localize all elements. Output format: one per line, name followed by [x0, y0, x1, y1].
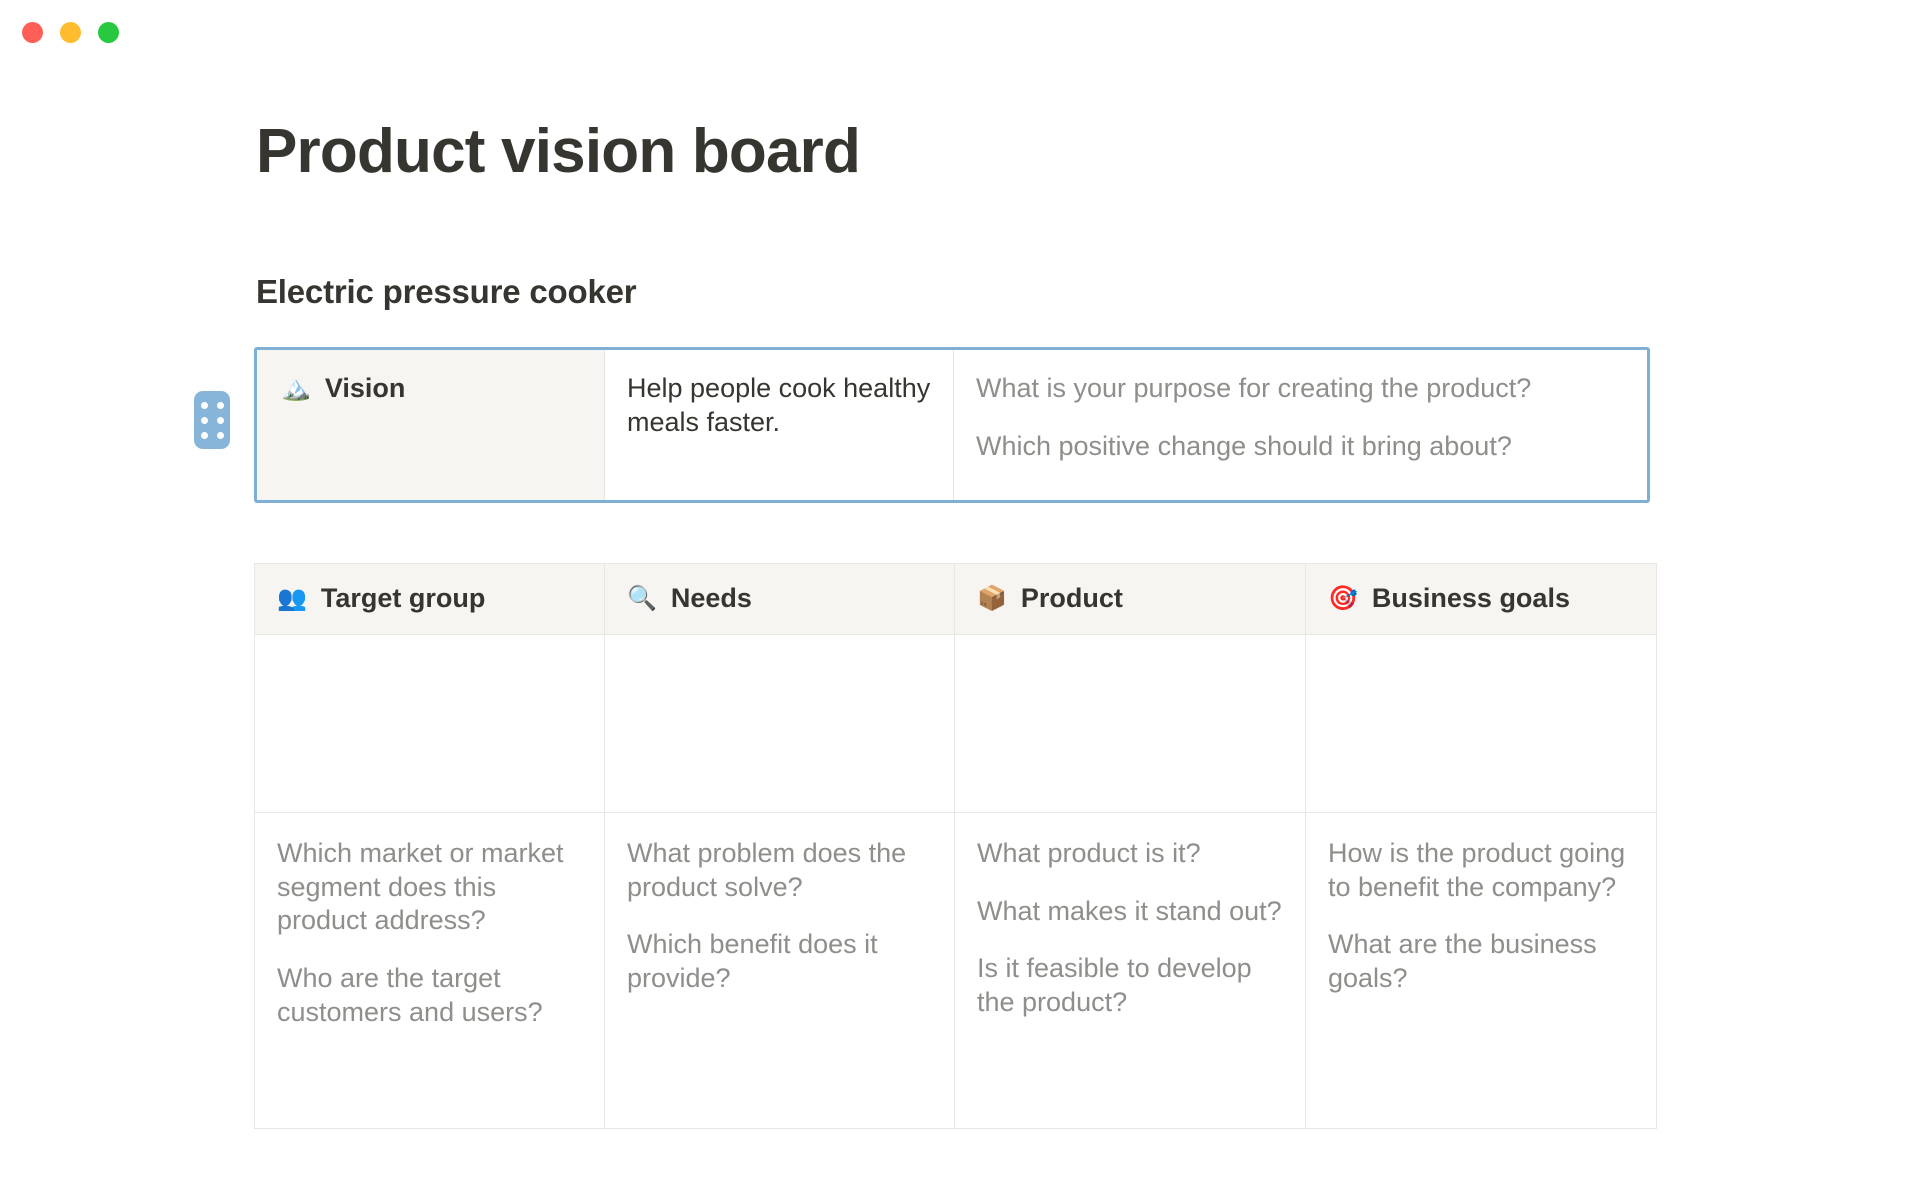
vision-value-line: Help people cook healthy meals faster.	[627, 372, 931, 440]
vision-prompts-text: What is your purpose for creating the pr…	[976, 372, 1625, 464]
prompt-cell-target-group[interactable]: Which market or market segment does this…	[255, 812, 605, 1128]
column-header-label: Target group	[321, 582, 486, 616]
direct-hit-icon: 🎯	[1328, 587, 1358, 611]
table-header-row: 👥 Target group 🔍 Needs 📦 Product	[255, 564, 1657, 635]
vision-prompts-cell[interactable]: What is your purpose for creating the pr…	[954, 350, 1647, 500]
drag-handle[interactable]	[194, 391, 230, 449]
prompt-line: What are the business goals?	[1328, 928, 1634, 996]
prompt-cell-product[interactable]: What product is it? What makes it stand …	[955, 812, 1306, 1128]
prompt-line: What problem does the product solve?	[627, 837, 932, 905]
vision-prompt: What is your purpose for creating the pr…	[976, 372, 1625, 406]
vision-label-text: Vision	[325, 372, 406, 406]
page-subtitle[interactable]: Electric pressure cooker	[256, 272, 636, 312]
column-header-target-group[interactable]: 👥 Target group	[255, 564, 605, 635]
value-cell-needs[interactable]	[605, 634, 955, 812]
value-cell-product[interactable]	[955, 634, 1306, 812]
vision-table-wrapper: 🏔️ Vision Help people cook healthy meals…	[254, 347, 1650, 503]
window-controls	[22, 22, 119, 43]
document-page: Product vision board Electric pressure c…	[0, 0, 1920, 1200]
prompt-line: How is the product going to benefit the …	[1328, 837, 1634, 905]
drag-dots-icon	[201, 402, 224, 439]
table-row: Which market or market segment does this…	[255, 812, 1657, 1128]
column-header-label: Needs	[671, 582, 752, 616]
vision-prompt: Which positive change should it bring ab…	[976, 430, 1625, 464]
prompt-line: What product is it?	[977, 837, 1283, 871]
busts-in-silhouette-icon: 👥	[277, 587, 307, 611]
vision-label-cell[interactable]: 🏔️ Vision	[257, 350, 605, 500]
column-header-label: Business goals	[1372, 582, 1570, 616]
table-row	[255, 634, 1657, 812]
vision-value-cell[interactable]: Help people cook healthy meals faster.	[605, 350, 954, 500]
column-header-label: Product	[1021, 582, 1123, 616]
mountain-icon: 🏔️	[281, 377, 311, 401]
column-header-product[interactable]: 📦 Product	[955, 564, 1306, 635]
prompt-line: Is it feasible to develop the product?	[977, 952, 1283, 1020]
column-header-needs[interactable]: 🔍 Needs	[605, 564, 955, 635]
window-title-bar	[0, 0, 1920, 62]
value-cell-business-goals[interactable]	[1306, 634, 1657, 812]
prompt-line: What makes it stand out?	[977, 895, 1283, 929]
prompt-line: Which benefit does it provide?	[627, 928, 932, 996]
page-title[interactable]: Product vision board	[256, 118, 860, 186]
vision-table[interactable]: 🏔️ Vision Help people cook healthy meals…	[254, 347, 1650, 503]
product-vision-board-table: 👥 Target group 🔍 Needs 📦 Product	[254, 563, 1657, 1129]
prompt-line: Who are the target customers and users?	[277, 962, 582, 1030]
close-button[interactable]	[22, 22, 43, 43]
vision-label-head: 🏔️ Vision	[281, 372, 582, 406]
prompt-cell-needs[interactable]: What problem does the product solve? Whi…	[605, 812, 955, 1128]
prompt-line: Which market or market segment does this…	[277, 837, 582, 938]
prompt-cell-business-goals[interactable]: How is the product going to benefit the …	[1306, 812, 1657, 1128]
maximize-button[interactable]	[98, 22, 119, 43]
package-icon: 📦	[977, 587, 1007, 611]
magnifying-glass-icon: 🔍	[627, 587, 657, 611]
value-cell-target-group[interactable]	[255, 634, 605, 812]
minimize-button[interactable]	[60, 22, 81, 43]
vision-value-text: Help people cook healthy meals faster.	[627, 372, 931, 440]
column-header-business-goals[interactable]: 🎯 Business goals	[1306, 564, 1657, 635]
